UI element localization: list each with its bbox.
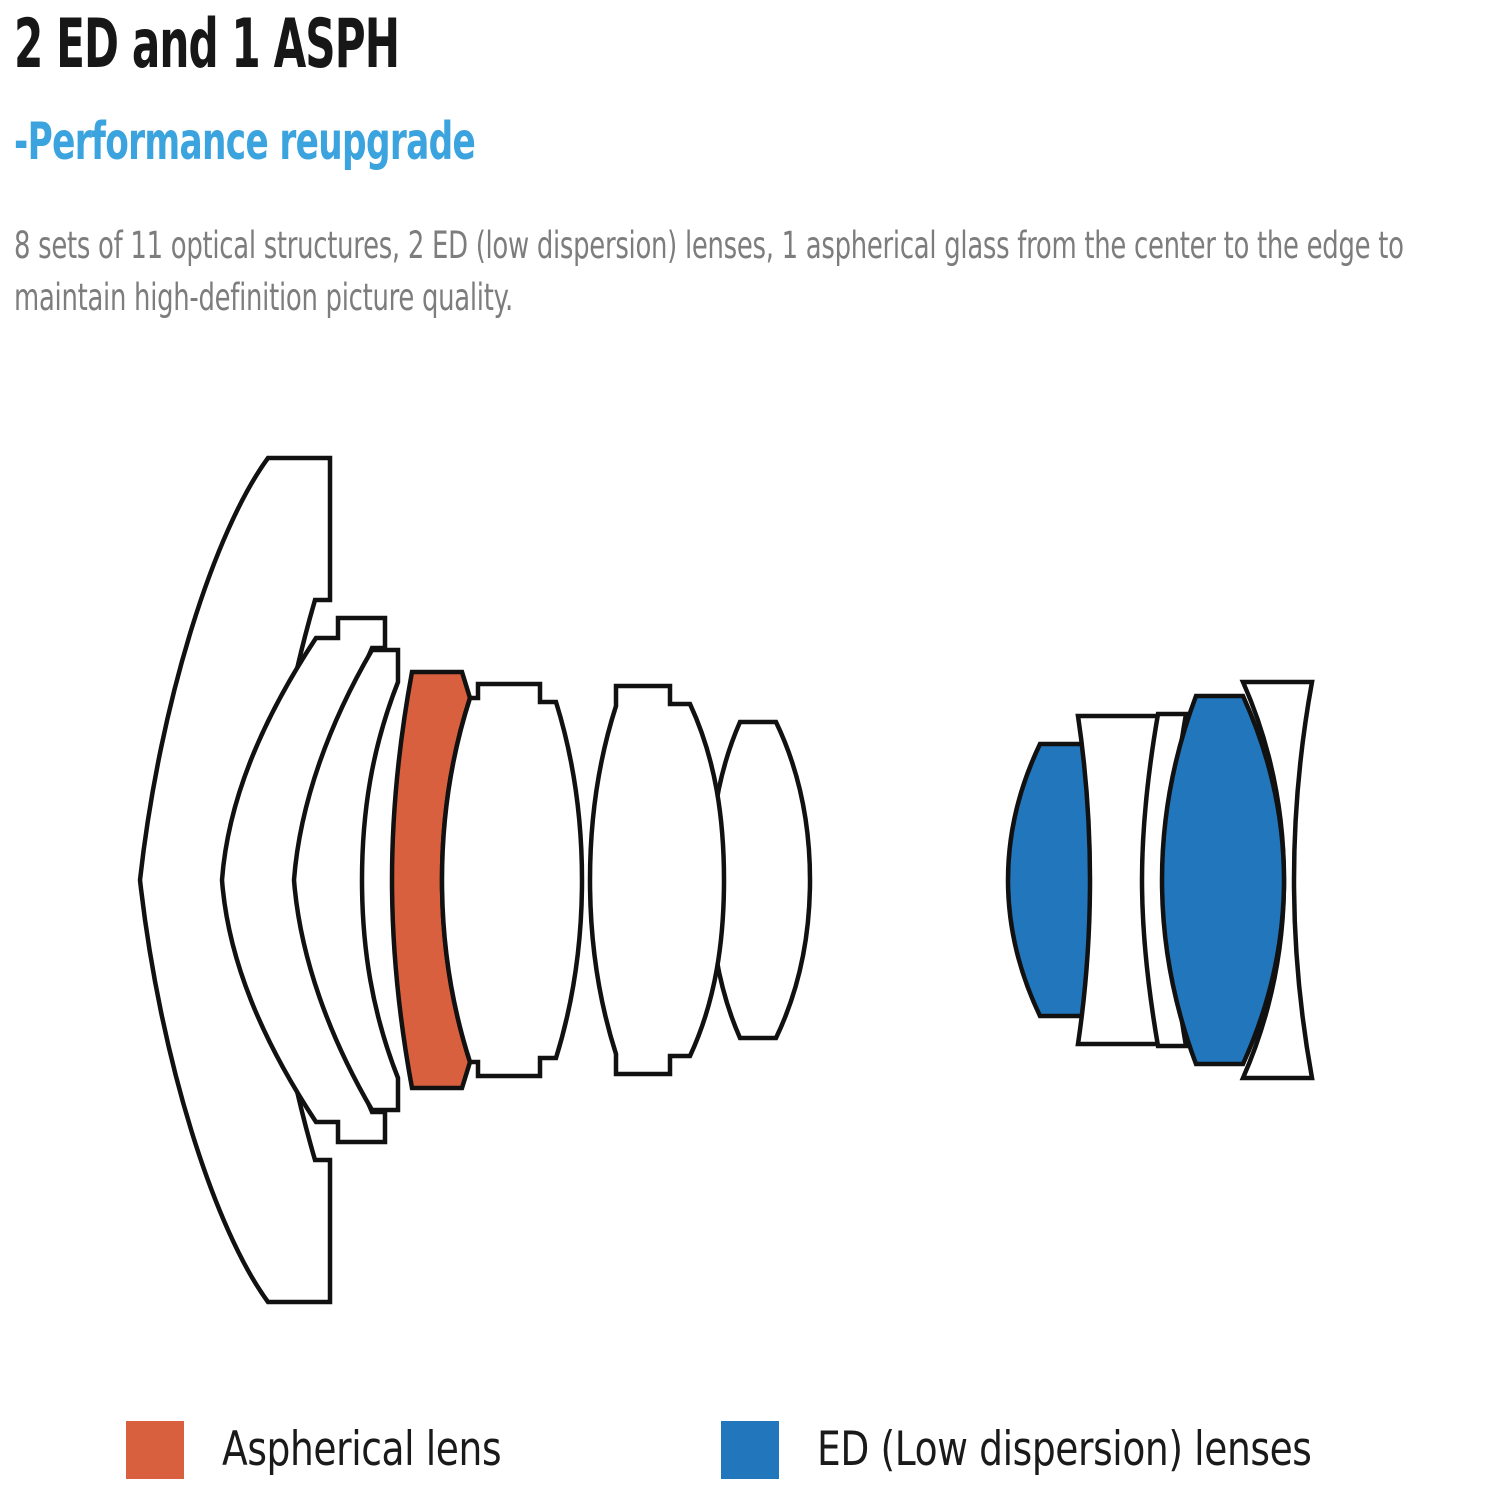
legend-item-aspherical: Aspherical lens bbox=[126, 1421, 571, 1479]
legend-label-aspherical: Aspherical lens bbox=[222, 1421, 501, 1479]
page-description: 8 sets of 11 optical structures, 2 ED (l… bbox=[14, 220, 1477, 324]
legend-swatch-aspherical-orange bbox=[126, 1421, 184, 1479]
legend-label-ed: ED (Low dispersion) lenses bbox=[817, 1421, 1312, 1479]
lens-cross-section-diagram bbox=[0, 400, 1500, 1360]
page-subtitle: -Performance reupgrade bbox=[14, 112, 984, 172]
lens-element-5-biconvex bbox=[442, 684, 582, 1076]
lens-element-6a-meniscus bbox=[590, 686, 724, 1074]
header-text-block: 2 ED and 1 ASPH -Performance reupgrade 8… bbox=[14, 0, 1484, 324]
page-title: 2 ED and 1 ASPH bbox=[14, 0, 925, 84]
legend: Aspherical lens ED (Low dispersion) lens… bbox=[0, 1415, 1500, 1493]
legend-swatch-ed-blue bbox=[721, 1421, 779, 1479]
lens-element-8c-ed-biconvex bbox=[1162, 696, 1284, 1064]
legend-item-ed: ED (Low dispersion) lenses bbox=[721, 1421, 1435, 1479]
